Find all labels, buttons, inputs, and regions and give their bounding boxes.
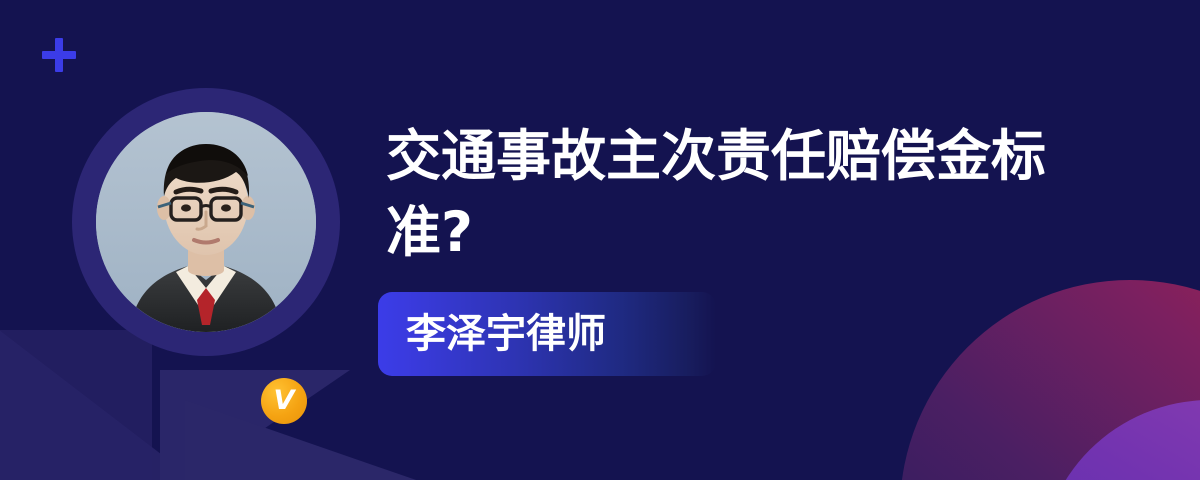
verified-badge-label: V	[274, 387, 295, 414]
plus-icon	[42, 38, 76, 72]
verified-badge-icon: V	[261, 378, 307, 424]
lawyer-name-badge[interactable]: 李泽宇律师	[378, 292, 716, 376]
lawyer-avatar-photo	[96, 112, 316, 332]
lawyer-name-label: 李泽宇律师	[378, 314, 606, 354]
lawyer-qa-banner: V 交通事故主次责任赔偿金标准? 李泽宇律师	[0, 0, 1200, 480]
page-title: 交通事故主次责任赔偿金标准?	[386, 118, 1056, 270]
headline-block: 交通事故主次责任赔偿金标准?	[386, 118, 1086, 270]
avatar[interactable]: V	[72, 88, 340, 356]
